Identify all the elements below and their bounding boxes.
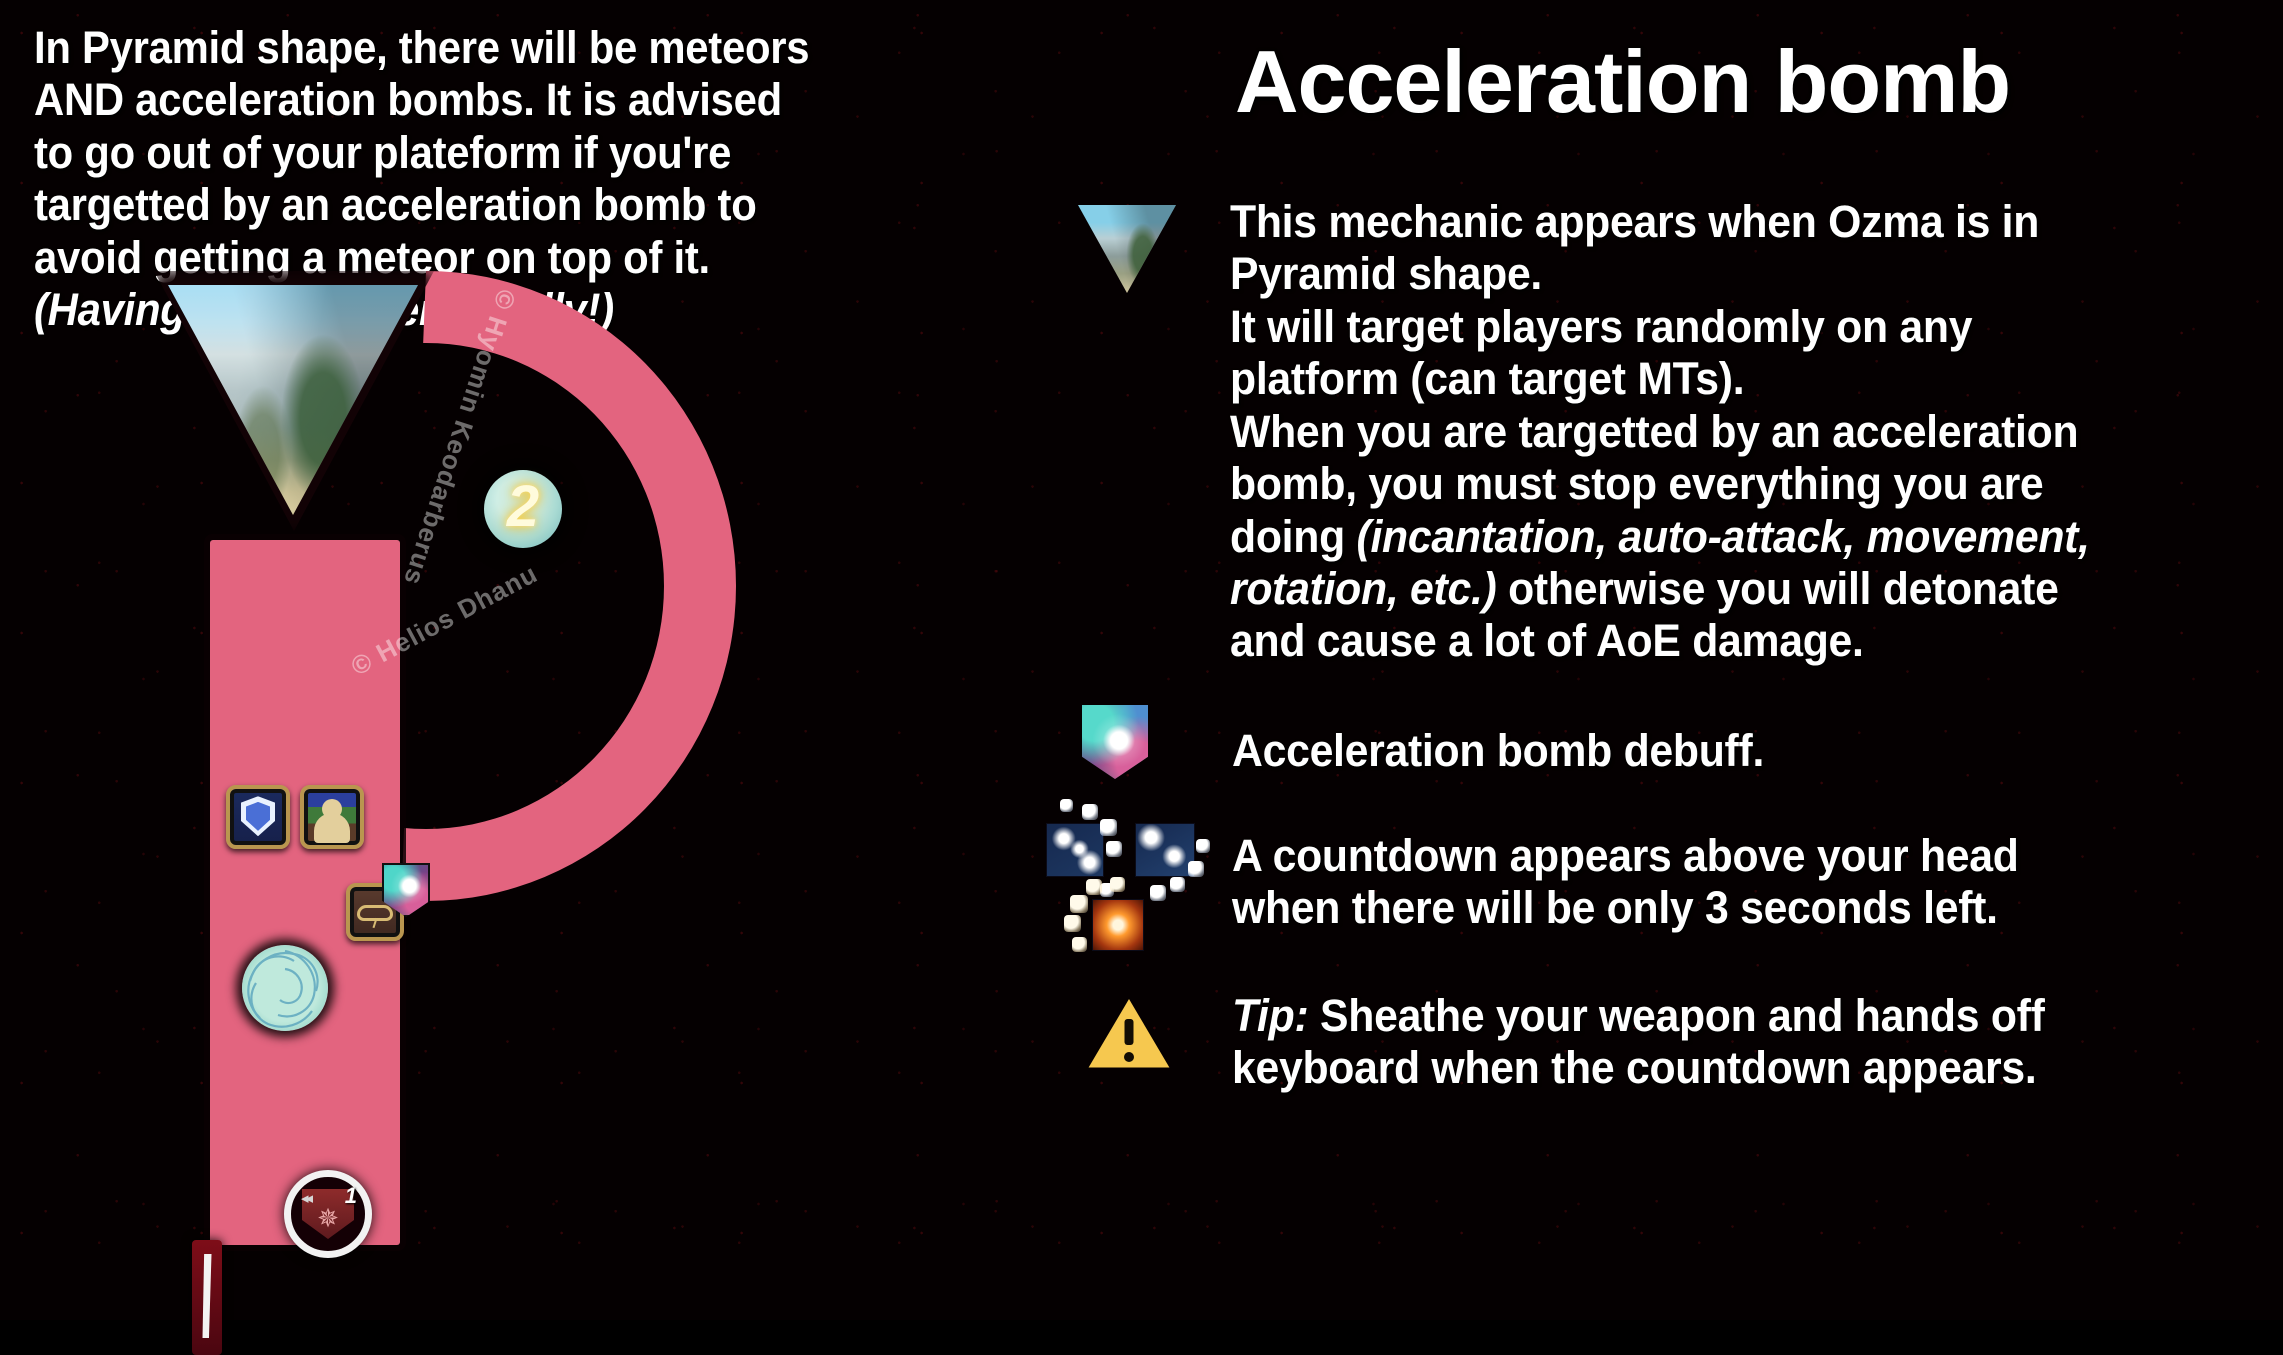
mechanic-line-6: bomb, you must stop everything you are bbox=[1230, 458, 2043, 509]
mechanic-line-4: platform (can target MTs). bbox=[1230, 353, 1744, 404]
mechanic-line-5: When you are targetted by an acceleratio… bbox=[1230, 406, 2078, 457]
mechanic-line-3: It will target players randomly on any bbox=[1230, 301, 1972, 352]
particle-orb bbox=[1072, 937, 1087, 952]
mask-glyph bbox=[357, 905, 393, 921]
mechanic-line-2: Pyramid shape. bbox=[1230, 248, 1542, 299]
countdown-tile-blue-1 bbox=[1046, 823, 1104, 877]
particle-orb bbox=[1082, 804, 1098, 820]
tank-player-icon[interactable] bbox=[300, 785, 364, 849]
slide-canvas: In Pyramid shape, there will be meteors … bbox=[0, 0, 2283, 1320]
rank-crest-icon[interactable]: ◂◂ 1 ✵ bbox=[284, 1170, 372, 1258]
countdown-tile-orange bbox=[1092, 899, 1144, 951]
particle-orb bbox=[1170, 877, 1185, 892]
mechanic-line-9: and cause a lot of AoE damage. bbox=[1230, 615, 1864, 666]
mechanic-line-7a: doing bbox=[1230, 511, 1356, 562]
acceleration-bomb-debuff-icon bbox=[1082, 705, 1148, 779]
section-mechanic-text: This mechanic appears when Ozma is in Py… bbox=[1230, 196, 2090, 668]
particle-orb bbox=[1110, 877, 1125, 892]
particle-orb bbox=[1106, 841, 1122, 857]
particle-orb bbox=[1150, 885, 1166, 901]
section-debuff: Acceleration bomb debuff. bbox=[1232, 725, 2272, 777]
countdown-line-2: when there will be only 3 seconds left. bbox=[1232, 882, 1998, 933]
marker-two-badge[interactable]: 2 bbox=[484, 470, 562, 548]
warning-exclamation-bar bbox=[1125, 1019, 1134, 1045]
star-glyph: ✵ bbox=[317, 1205, 339, 1231]
countdown-marker-icon bbox=[1040, 795, 1225, 970]
mechanic-line-8b: otherwise you will detonate bbox=[1496, 563, 2058, 614]
section-mechanic-description: This mechanic appears when Ozma is in Py… bbox=[1230, 196, 2270, 668]
pyramid-shape-icon bbox=[1078, 205, 1176, 293]
marker-two-number: 2 bbox=[507, 478, 539, 536]
section-tip-text: Tip: Sheathe your weapon and hands off k… bbox=[1232, 990, 2045, 1095]
tally-marker-one bbox=[192, 1240, 222, 1355]
section-countdown-text: A countdown appears above your head when… bbox=[1232, 830, 2019, 935]
page-title: Acceleration bomb bbox=[1235, 38, 2010, 126]
crest-number: 1 bbox=[345, 1183, 357, 1209]
shield-icon[interactable] bbox=[226, 785, 290, 849]
tip-label: Tip: bbox=[1232, 990, 1308, 1041]
note-line-3: to go out of your plateform if you're bbox=[34, 127, 731, 178]
pyramid-platform-diagram: © Hyomin Keodarberus © Helios Dhanu bbox=[150, 255, 870, 1315]
tank-body-glyph bbox=[314, 813, 350, 843]
particle-orb bbox=[1188, 861, 1204, 877]
tip-line-1: Sheathe your weapon and hands off bbox=[1308, 990, 2044, 1041]
tip-line-2: keyboard when the countdown appears. bbox=[1232, 1042, 2037, 1093]
section-tip: Tip: Sheathe your weapon and hands off k… bbox=[1232, 990, 2272, 1095]
spiral-glyph bbox=[242, 945, 328, 1031]
note-line-4: targetted by an acceleration bomb to bbox=[34, 179, 756, 230]
particle-orb bbox=[1060, 799, 1073, 812]
warning-exclamation-dot bbox=[1124, 1052, 1134, 1062]
mechanic-line-7b: (incantation, auto-attack, movement, bbox=[1356, 511, 2089, 562]
spiral-aoe-icon[interactable] bbox=[242, 945, 328, 1031]
particle-orb bbox=[1064, 915, 1081, 932]
double-chevron-icon: ◂◂ bbox=[301, 1189, 310, 1207]
mechanic-line-1: This mechanic appears when Ozma is in bbox=[1230, 196, 2039, 247]
pink-arc-path bbox=[356, 271, 876, 901]
section-debuff-text: Acceleration bomb debuff. bbox=[1232, 725, 1764, 777]
particle-orb bbox=[1100, 819, 1117, 836]
section-countdown: A countdown appears above your head when… bbox=[1232, 830, 2272, 935]
mechanic-line-8a: rotation, etc.) bbox=[1230, 563, 1496, 614]
particle-orb bbox=[1196, 839, 1210, 853]
note-line-2: AND acceleration bombs. It is advised bbox=[34, 74, 782, 125]
countdown-tile-blue-2 bbox=[1135, 823, 1195, 877]
particle-orb bbox=[1070, 895, 1088, 913]
particle-orb bbox=[1086, 879, 1102, 895]
warning-triangle-icon bbox=[1086, 996, 1172, 1072]
debuff-line-1: Acceleration bomb debuff. bbox=[1232, 725, 1764, 776]
countdown-line-1: A countdown appears above your head bbox=[1232, 830, 2019, 881]
pyramid-shape-shading bbox=[1078, 205, 1176, 293]
note-line-1: In Pyramid shape, there will be meteors bbox=[34, 22, 809, 73]
